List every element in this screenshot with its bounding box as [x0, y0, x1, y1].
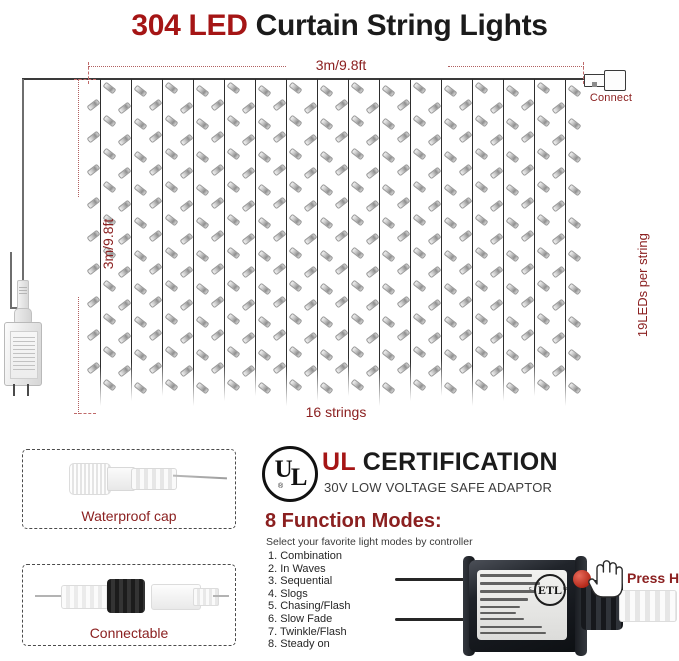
- led-bulb-icon: [102, 115, 116, 128]
- led-bulb-icon: [412, 345, 426, 358]
- led-bulb-icon: [86, 197, 100, 210]
- led-bulb-icon: [427, 167, 441, 180]
- connectable-tip: [193, 588, 219, 606]
- led-bulb-icon: [334, 164, 348, 177]
- led-bulb-icon: [489, 167, 503, 180]
- led-bulb-icon: [334, 197, 348, 210]
- led-string: [224, 79, 226, 401]
- led-bulb-icon: [505, 151, 519, 164]
- led-bulb-icon: [520, 98, 534, 111]
- led-bulb-icon: [427, 332, 441, 345]
- led-bulb-icon: [117, 332, 131, 345]
- led-string: [162, 79, 164, 396]
- led-bulb-icon: [365, 365, 379, 378]
- led-string: [379, 79, 381, 406]
- led-bulb-icon: [520, 329, 534, 342]
- height-label: 3m/9.8ft: [100, 194, 116, 294]
- function-mode-item: 6. Slow Fade: [268, 613, 398, 626]
- led-bulb-icon: [427, 299, 441, 312]
- feed-wire-drop: [10, 252, 12, 309]
- led-bulb-icon: [489, 233, 503, 246]
- led-bulb-icon: [303, 332, 317, 345]
- led-bulb-icon: [133, 315, 147, 328]
- led-bulb-icon: [164, 180, 178, 193]
- led-bulb-icon: [241, 233, 255, 246]
- led-bulb-icon: [443, 315, 457, 328]
- led-bulb-icon: [536, 345, 550, 358]
- led-bulb-icon: [179, 233, 193, 246]
- led-bulb-icon: [179, 167, 193, 180]
- cap-wire: [173, 475, 227, 480]
- led-bulb-icon: [179, 200, 193, 213]
- led-bulb-icon: [412, 180, 426, 193]
- function-mode-item: 7. Twinkle/Flash: [268, 626, 398, 639]
- led-bulb-icon: [226, 246, 240, 259]
- led-bulb-icon: [365, 134, 379, 147]
- led-bulb-icon: [272, 362, 286, 375]
- connector-pin: [592, 82, 597, 87]
- led-bulb-icon: [551, 200, 565, 213]
- led-bulb-icon: [210, 329, 224, 342]
- controller-label-plate: ETL c us: [477, 570, 567, 640]
- led-bulb-icon: [396, 296, 410, 309]
- led-bulb-icon: [396, 98, 410, 111]
- led-bulb-icon: [412, 213, 426, 226]
- led-bulb-icon: [195, 118, 209, 131]
- led-bulb-icon: [133, 381, 147, 394]
- led-bulb-icon: [350, 213, 364, 226]
- led-bulb-icon: [350, 279, 364, 292]
- led-bulb-icon: [443, 216, 457, 229]
- controller-lead-bottom: [395, 618, 473, 621]
- feature-box-waterproof-cap: Waterproof cap: [22, 449, 236, 529]
- led-bulb-icon: [148, 164, 162, 177]
- led-bulb-icon: [567, 183, 581, 196]
- led-bulb-icon: [179, 299, 193, 312]
- led-bulb-icon: [520, 362, 534, 375]
- led-bulb-icon: [443, 151, 457, 164]
- led-bulb-icon: [241, 200, 255, 213]
- led-string: [410, 79, 412, 401]
- led-bulb-icon: [458, 164, 472, 177]
- connectable-wire-right: [213, 595, 229, 597]
- led-bulb-icon: [179, 266, 193, 279]
- led-bulb-icon: [458, 131, 472, 144]
- led-bulb-icon: [489, 332, 503, 345]
- led-string: [193, 79, 195, 406]
- led-bulb-icon: [241, 167, 255, 180]
- led-bulb-icon: [334, 131, 348, 144]
- pointing-hand-icon: [587, 558, 631, 604]
- adapter-label-plate: [10, 331, 38, 379]
- led-bulb-icon: [86, 296, 100, 309]
- led-bulb-icon: [102, 378, 116, 391]
- led-bulb-icon: [86, 329, 100, 342]
- led-bulb-icon: [86, 131, 100, 144]
- led-bulb-icon: [489, 200, 503, 213]
- led-bulb-icon: [458, 197, 472, 210]
- led-bulb-icon: [133, 151, 147, 164]
- led-bulb-icon: [257, 85, 271, 98]
- ul-title: UL CERTIFICATION: [322, 448, 558, 477]
- led-bulb-icon: [257, 118, 271, 131]
- led-bulb-icon: [164, 345, 178, 358]
- led-bulb-icon: [427, 101, 441, 114]
- led-bulb-icon: [148, 296, 162, 309]
- led-bulb-icon: [148, 197, 162, 210]
- led-bulb-icon: [241, 365, 255, 378]
- led-bulb-icon: [210, 98, 224, 111]
- led-bulb-icon: [381, 381, 395, 394]
- led-bulb-icon: [195, 348, 209, 361]
- led-bulb-icon: [133, 183, 147, 196]
- led-bulb-icon: [334, 263, 348, 276]
- led-bulb-icon: [412, 279, 426, 292]
- led-bulb-icon: [319, 118, 333, 131]
- leds-per-string-label: 19LEDs per string: [635, 210, 651, 360]
- led-bulb-icon: [474, 148, 488, 161]
- led-bulb-icon: [288, 246, 302, 259]
- ul-mark-registered: ®: [278, 483, 283, 490]
- led-bulb-icon: [350, 312, 364, 325]
- led-bulb-icon: [365, 167, 379, 180]
- ul-title-highlight: UL: [322, 448, 355, 476]
- led-bulb-icon: [474, 180, 488, 193]
- led-bulb-icon: [102, 345, 116, 358]
- led-bulb-icon: [257, 315, 271, 328]
- led-bulb-icon: [195, 381, 209, 394]
- led-bulb-icon: [381, 183, 395, 196]
- led-bulb-icon: [396, 164, 410, 177]
- led-bulb-icon: [551, 134, 565, 147]
- led-bulb-icon: [288, 279, 302, 292]
- led-bulb-icon: [226, 148, 240, 161]
- led-bulb-icon: [474, 345, 488, 358]
- led-bulb-icon: [319, 249, 333, 262]
- connector-body: [584, 74, 606, 87]
- led-bulb-icon: [288, 378, 302, 391]
- led-bulb-icon: [117, 200, 131, 213]
- led-bulb-icon: [195, 315, 209, 328]
- led-bulb-icon: [412, 378, 426, 391]
- led-string: [348, 79, 350, 396]
- led-bulb-icon: [551, 332, 565, 345]
- plug-prong-right: [27, 384, 29, 396]
- led-bulb-icon: [210, 197, 224, 210]
- led-bulb-icon: [164, 246, 178, 259]
- led-bulb-icon: [551, 266, 565, 279]
- led-bulb-icon: [148, 362, 162, 375]
- led-bulb-icon: [396, 362, 410, 375]
- led-bulb-icon: [489, 299, 503, 312]
- ul-certification-section: UL ® UL CERTIFICATION 30V LOW VOLTAGE SA…: [262, 444, 602, 502]
- connectable-plug-icon: [35, 573, 227, 619]
- width-label: 3m/9.8ft: [286, 57, 396, 73]
- function-mode-item: 8. Steady on: [268, 638, 398, 651]
- led-bulb-icon: [195, 216, 209, 229]
- led-bulb-icon: [567, 151, 581, 164]
- led-bulb-icon: [551, 101, 565, 114]
- plug-prong-left: [13, 384, 15, 396]
- led-bulb-icon: [567, 216, 581, 229]
- led-bulb-icon: [257, 381, 271, 394]
- led-bulb-icon: [396, 131, 410, 144]
- led-bulb-icon: [117, 233, 131, 246]
- led-bulb-icon: [474, 213, 488, 226]
- ul-title-rest: CERTIFICATION: [363, 448, 558, 476]
- led-string: [317, 79, 319, 401]
- function-modes-title: 8 Function Modes:: [265, 510, 442, 533]
- led-bulb-icon: [443, 282, 457, 295]
- led-bulb-icon: [412, 115, 426, 128]
- led-bulb-icon: [272, 164, 286, 177]
- led-bulb-icon: [210, 164, 224, 177]
- led-bulb-icon: [536, 148, 550, 161]
- led-bulb-icon: [505, 381, 519, 394]
- connectable-tube-left: [61, 585, 113, 609]
- led-bulb-icon: [412, 148, 426, 161]
- led-bulb-icon: [319, 282, 333, 295]
- led-bulb-icon: [350, 148, 364, 161]
- led-bulb-icon: [195, 249, 209, 262]
- led-bulb-icon: [319, 216, 333, 229]
- led-bulb-icon: [520, 296, 534, 309]
- function-mode-item: 1. Combination: [268, 550, 398, 563]
- led-bulb-icon: [226, 213, 240, 226]
- led-bulb-icon: [210, 230, 224, 243]
- led-bulb-icon: [164, 279, 178, 292]
- led-bulb-icon: [272, 230, 286, 243]
- led-bulb-icon: [164, 148, 178, 161]
- led-bulb-icon: [396, 230, 410, 243]
- led-bulb-icon: [303, 134, 317, 147]
- led-bulb-icon: [443, 348, 457, 361]
- connectable-black-nut: [107, 579, 145, 613]
- led-bulb-icon: [381, 249, 395, 262]
- led-bulb-icon: [303, 101, 317, 114]
- led-bulb-icon: [179, 365, 193, 378]
- led-bulb-icon: [474, 82, 488, 95]
- connector-icon: [584, 70, 630, 88]
- led-bulb-icon: [474, 312, 488, 325]
- led-bulb-icon: [133, 282, 147, 295]
- led-bulb-icon: [319, 85, 333, 98]
- led-bulb-icon: [505, 216, 519, 229]
- led-bulb-icon: [427, 266, 441, 279]
- led-bulb-icon: [210, 263, 224, 276]
- function-modes-list: 1. Combination2. In Waves3. Sequential4.…: [268, 550, 398, 651]
- led-bulb-icon: [536, 312, 550, 325]
- led-bulb-icon: [381, 282, 395, 295]
- led-bulb-icon: [334, 296, 348, 309]
- led-bulb-icon: [365, 233, 379, 246]
- led-bulb-icon: [148, 98, 162, 111]
- led-bulb-icon: [288, 148, 302, 161]
- led-bulb-icon: [443, 118, 457, 131]
- led-bulb-icon: [303, 299, 317, 312]
- etl-us-mark: us: [563, 586, 567, 592]
- waterproof-cap-icon: [61, 456, 231, 500]
- led-bulb-icon: [474, 115, 488, 128]
- led-bulb-icon: [319, 381, 333, 394]
- connect-label: Connect: [576, 92, 646, 104]
- led-bulb-icon: [241, 332, 255, 345]
- feature-box-connectable: Connectable: [22, 564, 236, 646]
- led-bulb-icon: [272, 296, 286, 309]
- led-bulb-icon: [396, 329, 410, 342]
- led-bulb-icon: [257, 151, 271, 164]
- led-bulb-icon: [567, 348, 581, 361]
- led-bulb-icon: [520, 230, 534, 243]
- led-bulb-icon: [241, 101, 255, 114]
- led-bulb-icon: [350, 115, 364, 128]
- led-curtain-grid: [88, 79, 584, 414]
- led-string: [534, 79, 536, 396]
- led-bulb-icon: [505, 85, 519, 98]
- led-bulb-icon: [117, 266, 131, 279]
- led-bulb-icon: [195, 85, 209, 98]
- led-bulb-icon: [86, 164, 100, 177]
- led-bulb-icon: [164, 378, 178, 391]
- led-bulb-icon: [381, 216, 395, 229]
- led-bulb-icon: [381, 315, 395, 328]
- led-bulb-icon: [365, 101, 379, 114]
- led-bulb-icon: [257, 249, 271, 262]
- led-string: [565, 79, 567, 406]
- led-bulb-icon: [226, 312, 240, 325]
- led-bulb-icon: [241, 266, 255, 279]
- led-bulb-icon: [272, 98, 286, 111]
- function-mode-item: 4. Slogs: [268, 588, 398, 601]
- led-bulb-icon: [86, 98, 100, 111]
- led-bulb-icon: [489, 266, 503, 279]
- led-string: [503, 79, 505, 401]
- led-bulb-icon: [164, 115, 178, 128]
- led-bulb-icon: [303, 167, 317, 180]
- led-bulb-icon: [365, 299, 379, 312]
- led-bulb-icon: [226, 279, 240, 292]
- cap-ribbed-body: [69, 463, 111, 495]
- led-bulb-icon: [489, 101, 503, 114]
- led-bulb-icon: [226, 378, 240, 391]
- ul-mark-l: L: [291, 464, 306, 492]
- led-bulb-icon: [257, 216, 271, 229]
- led-bulb-icon: [567, 118, 581, 131]
- led-bulb-icon: [365, 266, 379, 279]
- page-title-highlight: 304 LED: [131, 9, 247, 42]
- led-bulb-icon: [489, 365, 503, 378]
- led-bulb-icon: [365, 332, 379, 345]
- ul-subtitle: 30V LOW VOLTAGE SAFE ADAPTOR: [324, 480, 552, 495]
- led-bulb-icon: [350, 180, 364, 193]
- led-bulb-icon: [226, 82, 240, 95]
- led-bulb-icon: [86, 362, 100, 375]
- led-bulb-icon: [319, 151, 333, 164]
- height-dimension-line: [78, 79, 79, 414]
- led-bulb-icon: [536, 115, 550, 128]
- ul-mark-icon: UL ®: [262, 446, 318, 502]
- led-bulb-icon: [164, 312, 178, 325]
- led-bulb-icon: [102, 148, 116, 161]
- led-bulb-icon: [226, 180, 240, 193]
- led-bulb-icon: [396, 263, 410, 276]
- function-modes-subtitle: Select your favorite light modes by cont…: [266, 536, 473, 548]
- led-bulb-icon: [505, 282, 519, 295]
- led-bulb-icon: [272, 197, 286, 210]
- led-bulb-icon: [319, 315, 333, 328]
- led-bulb-icon: [474, 246, 488, 259]
- led-bulb-icon: [241, 299, 255, 312]
- led-bulb-icon: [427, 200, 441, 213]
- press-here-label: Press Here: [627, 570, 679, 586]
- etl-c-mark: c: [529, 586, 532, 592]
- led-bulb-icon: [489, 134, 503, 147]
- led-bulb-icon: [334, 230, 348, 243]
- led-bulb-icon: [458, 98, 472, 111]
- controller-lead-top: [395, 578, 473, 581]
- led-bulb-icon: [412, 82, 426, 95]
- led-bulb-icon: [567, 315, 581, 328]
- page-header: 304 LED Curtain String Lights: [0, 0, 679, 52]
- led-bulb-icon: [288, 312, 302, 325]
- cap-tube: [131, 468, 177, 490]
- led-bulb-icon: [272, 131, 286, 144]
- led-bulb-icon: [86, 263, 100, 276]
- led-bulb-icon: [133, 216, 147, 229]
- led-bulb-icon: [179, 134, 193, 147]
- led-bulb-icon: [117, 134, 131, 147]
- led-bulb-icon: [303, 200, 317, 213]
- led-bulb-icon: [303, 233, 317, 246]
- strings-count-label: 16 strings: [246, 404, 426, 420]
- led-bulb-icon: [474, 279, 488, 292]
- led-bulb-icon: [334, 329, 348, 342]
- page-title-rest: Curtain String Lights: [256, 9, 548, 42]
- led-bulb-icon: [443, 381, 457, 394]
- led-bulb-icon: [520, 131, 534, 144]
- led-bulb-icon: [350, 378, 364, 391]
- led-bulb-icon: [551, 299, 565, 312]
- led-bulb-icon: [551, 365, 565, 378]
- led-string: [255, 79, 257, 396]
- led-string: [131, 79, 133, 401]
- led-bulb-icon: [102, 180, 116, 193]
- led-bulb-icon: [117, 167, 131, 180]
- led-bulb-icon: [381, 348, 395, 361]
- led-bulb-icon: [520, 197, 534, 210]
- led-bulb-icon: [396, 197, 410, 210]
- led-bulb-icon: [117, 101, 131, 114]
- led-bulb-icon: [350, 82, 364, 95]
- led-bulb-icon: [179, 332, 193, 345]
- led-bulb-icon: [272, 263, 286, 276]
- led-bulb-icon: [334, 362, 348, 375]
- led-bulb-icon: [458, 296, 472, 309]
- led-bulb-icon: [117, 365, 131, 378]
- led-bulb-icon: [133, 85, 147, 98]
- led-string: [472, 79, 474, 406]
- led-bulb-icon: [520, 263, 534, 276]
- led-string: [441, 79, 443, 396]
- led-bulb-icon: [536, 180, 550, 193]
- led-bulb-icon: [443, 183, 457, 196]
- led-bulb-icon: [195, 282, 209, 295]
- led-bulb-icon: [210, 296, 224, 309]
- led-bulb-icon: [567, 381, 581, 394]
- led-bulb-icon: [133, 249, 147, 262]
- ul-mark-u: U: [275, 456, 291, 484]
- led-bulb-icon: [241, 134, 255, 147]
